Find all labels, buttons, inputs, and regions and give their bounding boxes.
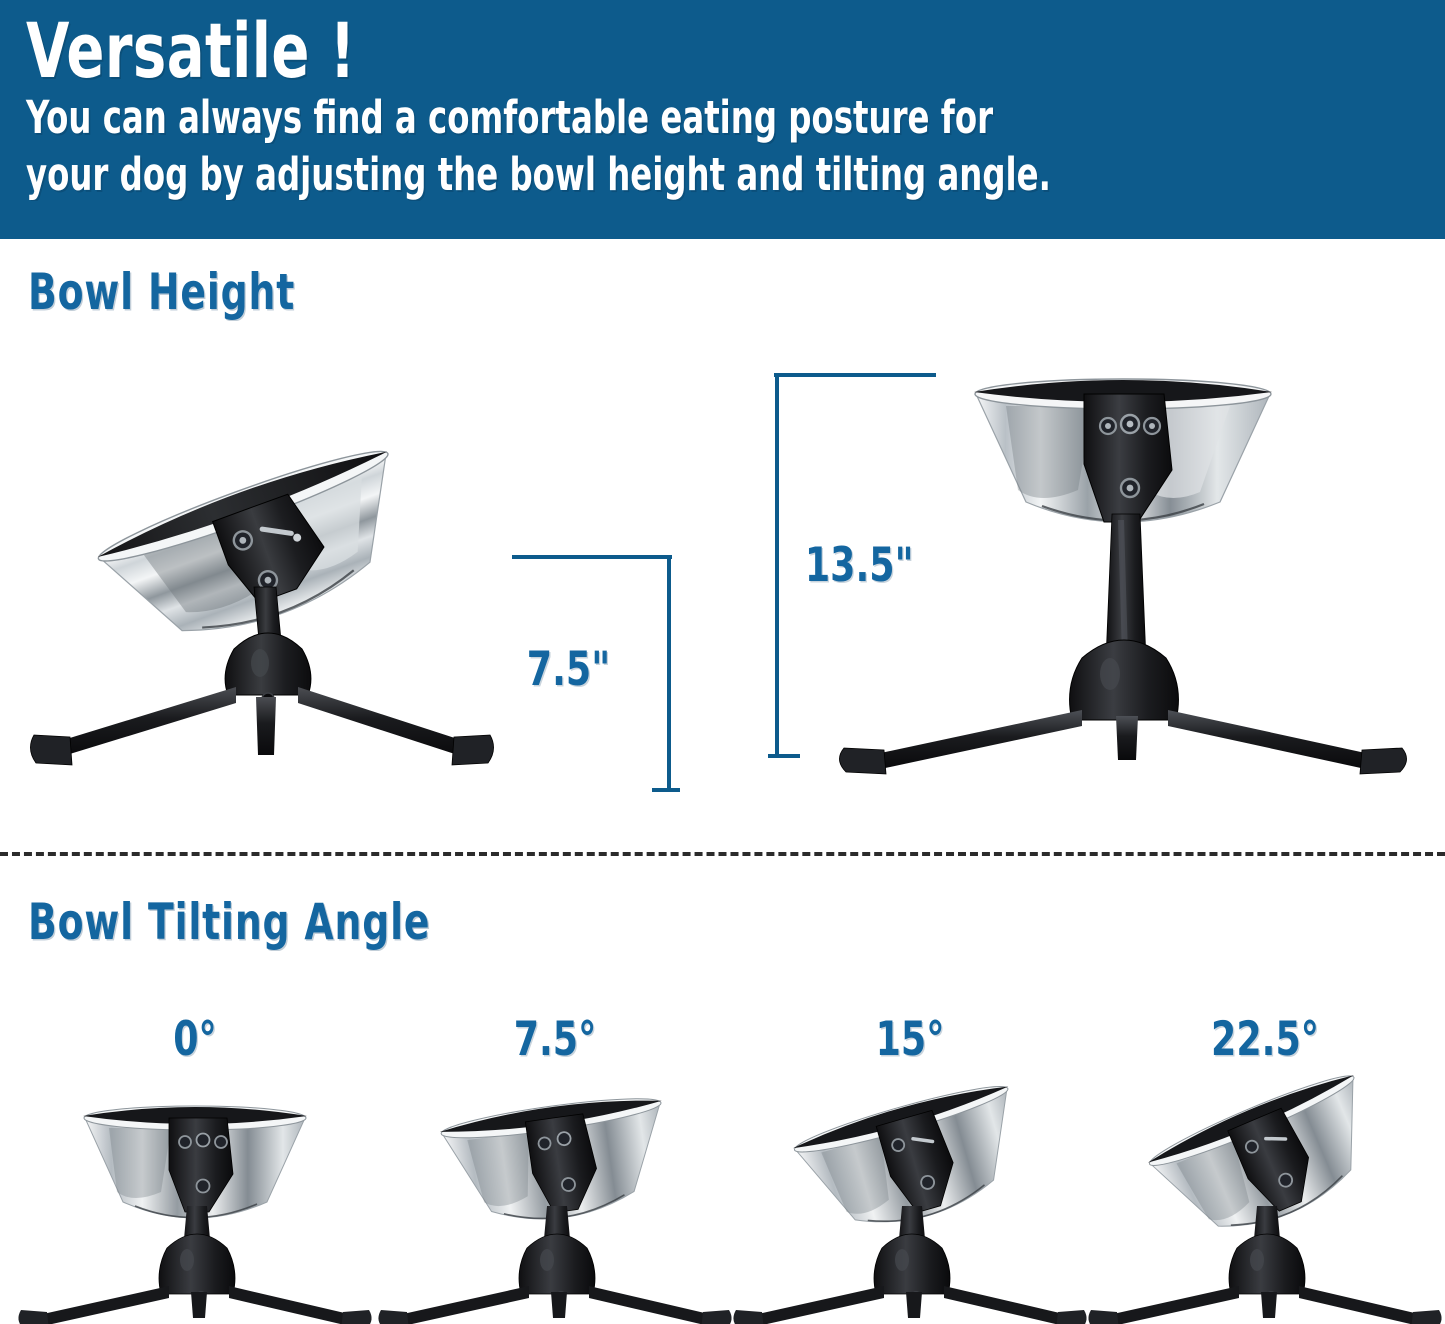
bowl-inner-shadow (109, 1128, 171, 1198)
tripod-leg-rear (191, 1292, 207, 1318)
ball-joint-hub (159, 1234, 235, 1294)
tilt-cell-7-5deg: 7.5° (375, 1012, 735, 1324)
bracket-bolt-lower (197, 1180, 210, 1193)
rubber-foot-right (701, 1310, 732, 1324)
hub-highlight (180, 1249, 194, 1271)
tripod-leg-right (229, 1286, 349, 1324)
tripod-leg-left (403, 1286, 529, 1324)
bracket-bolt-left (179, 1136, 191, 1148)
tripod-leg-right (298, 687, 464, 757)
tilt-angle-label-22-5: 22.5° (1110, 1012, 1420, 1067)
tripod-leg-right (589, 1286, 709, 1324)
rubber-foot-right (452, 735, 494, 765)
hub-highlight (1250, 1249, 1264, 1271)
banner-subtitle-line-1: You can always find a comfortable eating… (26, 91, 1144, 144)
rubber-foot-right (1360, 748, 1407, 774)
hub-highlight (895, 1249, 909, 1271)
bracket-bolt-right (215, 1136, 227, 1148)
section-heading-bowl-height: Bowl Height (28, 263, 295, 321)
bracket-bolt-lower (561, 1177, 576, 1192)
tripod-leg-left (60, 687, 236, 757)
tilt-cell-0deg: 0° (15, 1012, 375, 1324)
section-divider (0, 852, 1445, 856)
tripod-leg-left (758, 1286, 884, 1324)
bracket-bolt-left (538, 1137, 552, 1151)
tilt-stand-art-15deg (730, 1090, 1090, 1320)
banner-title: Versatile ! (26, 14, 1172, 88)
tripod-leg-rear (551, 1292, 567, 1318)
tripod-leg-right (1299, 1286, 1419, 1324)
ball-joint-hub (1070, 640, 1179, 720)
bowl-height-illustrations: 7.5" (0, 350, 1445, 800)
tilt-cell-15deg: 15° (730, 1012, 1090, 1324)
banner-subtitle-line-2: your dog by adjusting the bowl height an… (26, 148, 1144, 201)
dimension-label-13-5-inch: 13.5" (805, 538, 914, 593)
tripod-leg-left (1113, 1286, 1239, 1324)
dimension-7-5-inch: 7.5" (512, 550, 682, 795)
rubber-foot-left (30, 735, 72, 765)
tripod-leg-right (944, 1286, 1064, 1324)
hub-highlight (1100, 658, 1120, 690)
header-banner: Versatile ! You can always find a comfor… (0, 0, 1445, 239)
dimension-label-7-5-inch: 7.5" (527, 642, 610, 697)
stand-low-7-5in (20, 405, 540, 775)
tilt-cell-22-5deg: 22.5° (1085, 1012, 1445, 1324)
rubber-foot-right (341, 1310, 372, 1324)
tilt-angle-label-7-5: 7.5° (400, 1012, 710, 1067)
tripod-leg-right (1168, 710, 1370, 770)
tilt-angle-label-15: 15° (755, 1012, 1065, 1067)
tilt-stand-art-0deg (15, 1090, 375, 1320)
ball-joint-hub (1229, 1234, 1305, 1294)
section-heading-bowl-tilting-angle: Bowl Tilting Angle (28, 893, 430, 951)
rubber-foot-right (1056, 1310, 1087, 1324)
ball-joint-hub (519, 1234, 595, 1294)
rubber-foot-left (18, 1310, 49, 1324)
ball-joint-hub (874, 1234, 950, 1294)
tripod-leg-rear (1261, 1292, 1277, 1318)
tilt-stand-art-22-5deg (1085, 1090, 1445, 1320)
hub-highlight (540, 1249, 554, 1271)
bracket-bolt-center (197, 1134, 210, 1147)
bracket-bolt-center (557, 1131, 572, 1146)
tripod-leg-rear (906, 1292, 922, 1318)
hub-highlight (251, 649, 269, 677)
bowl-tilting-angle-illustrations: 0° (0, 1012, 1445, 1324)
rubber-foot-left (378, 1310, 409, 1324)
dimension-13-5-inch: 13.5" (768, 370, 938, 760)
tripod-leg-rear (1116, 716, 1138, 760)
tripod-leg-left (43, 1286, 169, 1324)
infographic-page: Versatile ! You can always find a comfor… (0, 0, 1445, 1324)
tripod-leg-rear (256, 697, 276, 755)
rubber-foot-right (1411, 1310, 1442, 1324)
tilt-angle-label-0: 0° (40, 1012, 350, 1067)
rubber-foot-left (1088, 1310, 1119, 1324)
rubber-foot-left (733, 1310, 764, 1324)
tilt-stand-art-7-5deg (375, 1090, 735, 1320)
